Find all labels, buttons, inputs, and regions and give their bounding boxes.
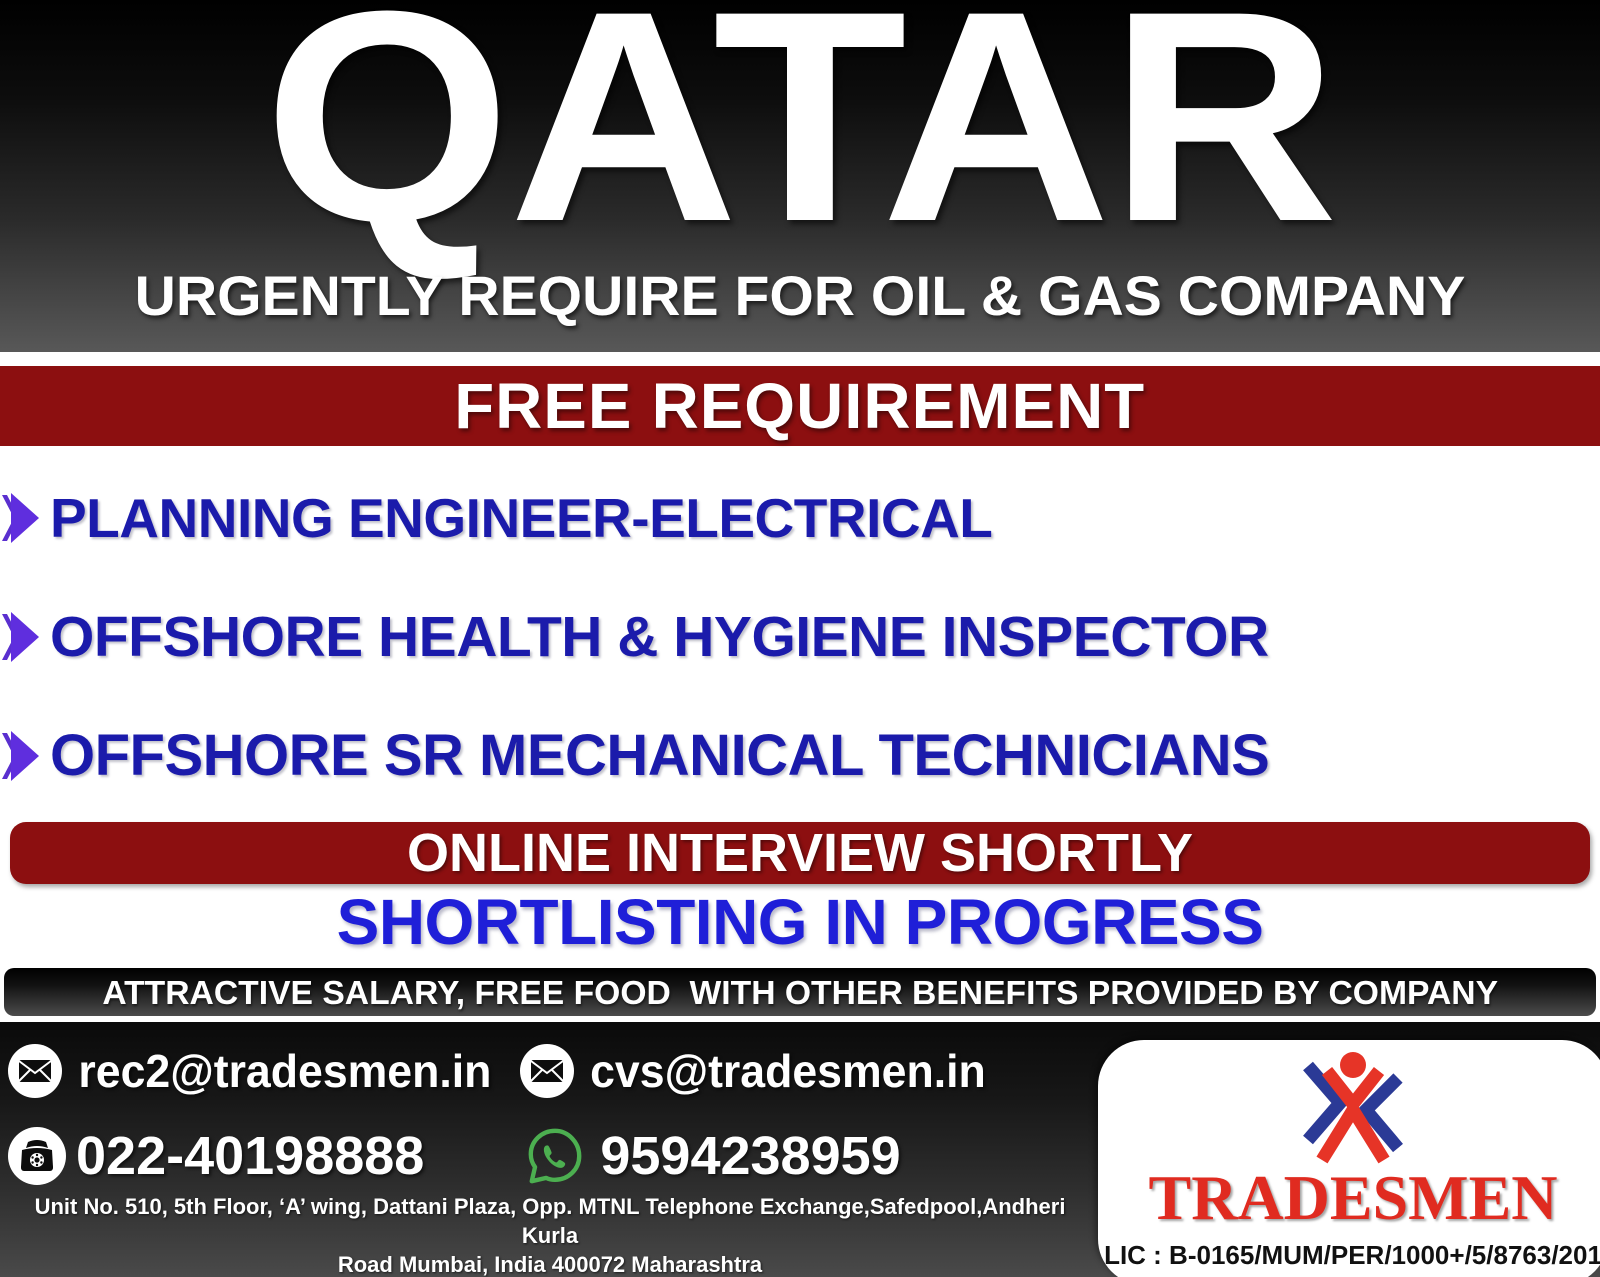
free-requirement-banner: FREE REQUIREMENT [0, 366, 1600, 446]
phone-contact[interactable]: 022-40198888 [8, 1127, 424, 1185]
benefits-label: ATTRACTIVE SALARY, FREE FOOD WITH OTHER … [102, 976, 1498, 1009]
telephone-icon [8, 1127, 66, 1185]
email-row: rec2@tradesmen.in cvs@tradesmen.in [8, 1040, 992, 1102]
job-list: PLANNING ENGINEER-ELECTRICAL OFFSHORE HE… [0, 466, 1600, 816]
job-list-item: PLANNING ENGINEER-ELECTRICAL [0, 480, 1600, 556]
address-line-1: Unit No. 510, 5th Floor, ‘A’ wing, Datta… [10, 1192, 1090, 1250]
tradesmen-figure-logo-icon [1278, 1048, 1428, 1166]
shortlisting-status: SHORTLISTING IN PROGRESS [0, 890, 1600, 954]
job-title: OFFSHORE HEALTH & HYGIENE INSPECTOR [50, 609, 1269, 666]
poster-header: QATAR URGENTLY REQUIRE FOR OIL & GAS COM… [0, 0, 1600, 352]
envelope-icon [520, 1044, 574, 1098]
double-chevron-arrow-icon [0, 725, 48, 787]
whatsapp-contact[interactable]: 9594238959 [524, 1125, 900, 1187]
double-chevron-arrow-icon [0, 487, 48, 549]
online-interview-label: ONLINE INTERVIEW SHORTLY [407, 826, 1193, 880]
email-contact-2[interactable]: cvs@tradesmen.in [520, 1044, 992, 1098]
whatsapp-icon [524, 1125, 586, 1187]
country-title: QATAR [0, 0, 1600, 266]
office-address: Unit No. 510, 5th Floor, ‘A’ wing, Datta… [10, 1192, 1090, 1277]
phone-row: 022-40198888 9594238959 [8, 1122, 901, 1190]
job-list-item: OFFSHORE SR MECHANICAL TECHNICIANS [0, 718, 1600, 794]
job-title: PLANNING ENGINEER-ELECTRICAL [50, 491, 992, 546]
job-list-item: OFFSHORE HEALTH & HYGIENE INSPECTOR [0, 599, 1600, 675]
header-subtitle: URGENTLY REQUIRE FOR OIL & GAS COMPANY [0, 268, 1600, 324]
address-line-2: Road Mumbai, India 400072 Maharashtra [10, 1250, 1090, 1277]
email-address: cvs@tradesmen.in [590, 1048, 986, 1094]
double-chevron-arrow-icon [0, 606, 48, 668]
recruitment-poster: QATAR URGENTLY REQUIRE FOR OIL & GAS COM… [0, 0, 1600, 1277]
email-contact-1[interactable]: rec2@tradesmen.in [8, 1044, 498, 1098]
license-number: LIC : B-0165/MUM/PER/1000+/5/8763/201 [1098, 1242, 1600, 1268]
email-address: rec2@tradesmen.in [78, 1048, 491, 1094]
whatsapp-number: 9594238959 [600, 1129, 900, 1183]
benefits-bar: ATTRACTIVE SALARY, FREE FOOD WITH OTHER … [4, 968, 1596, 1016]
online-interview-banner: ONLINE INTERVIEW SHORTLY [10, 822, 1590, 884]
envelope-icon [8, 1044, 62, 1098]
brand-name: TRADESMEN [1098, 1166, 1600, 1230]
job-title: OFFSHORE SR MECHANICAL TECHNICIANS [50, 727, 1269, 785]
free-requirement-label: FREE REQUIREMENT [455, 374, 1146, 438]
phone-number: 022-40198888 [76, 1129, 424, 1183]
company-logo-panel: TRADESMEN LIC : B-0165/MUM/PER/1000+/5/8… [1098, 1040, 1600, 1277]
